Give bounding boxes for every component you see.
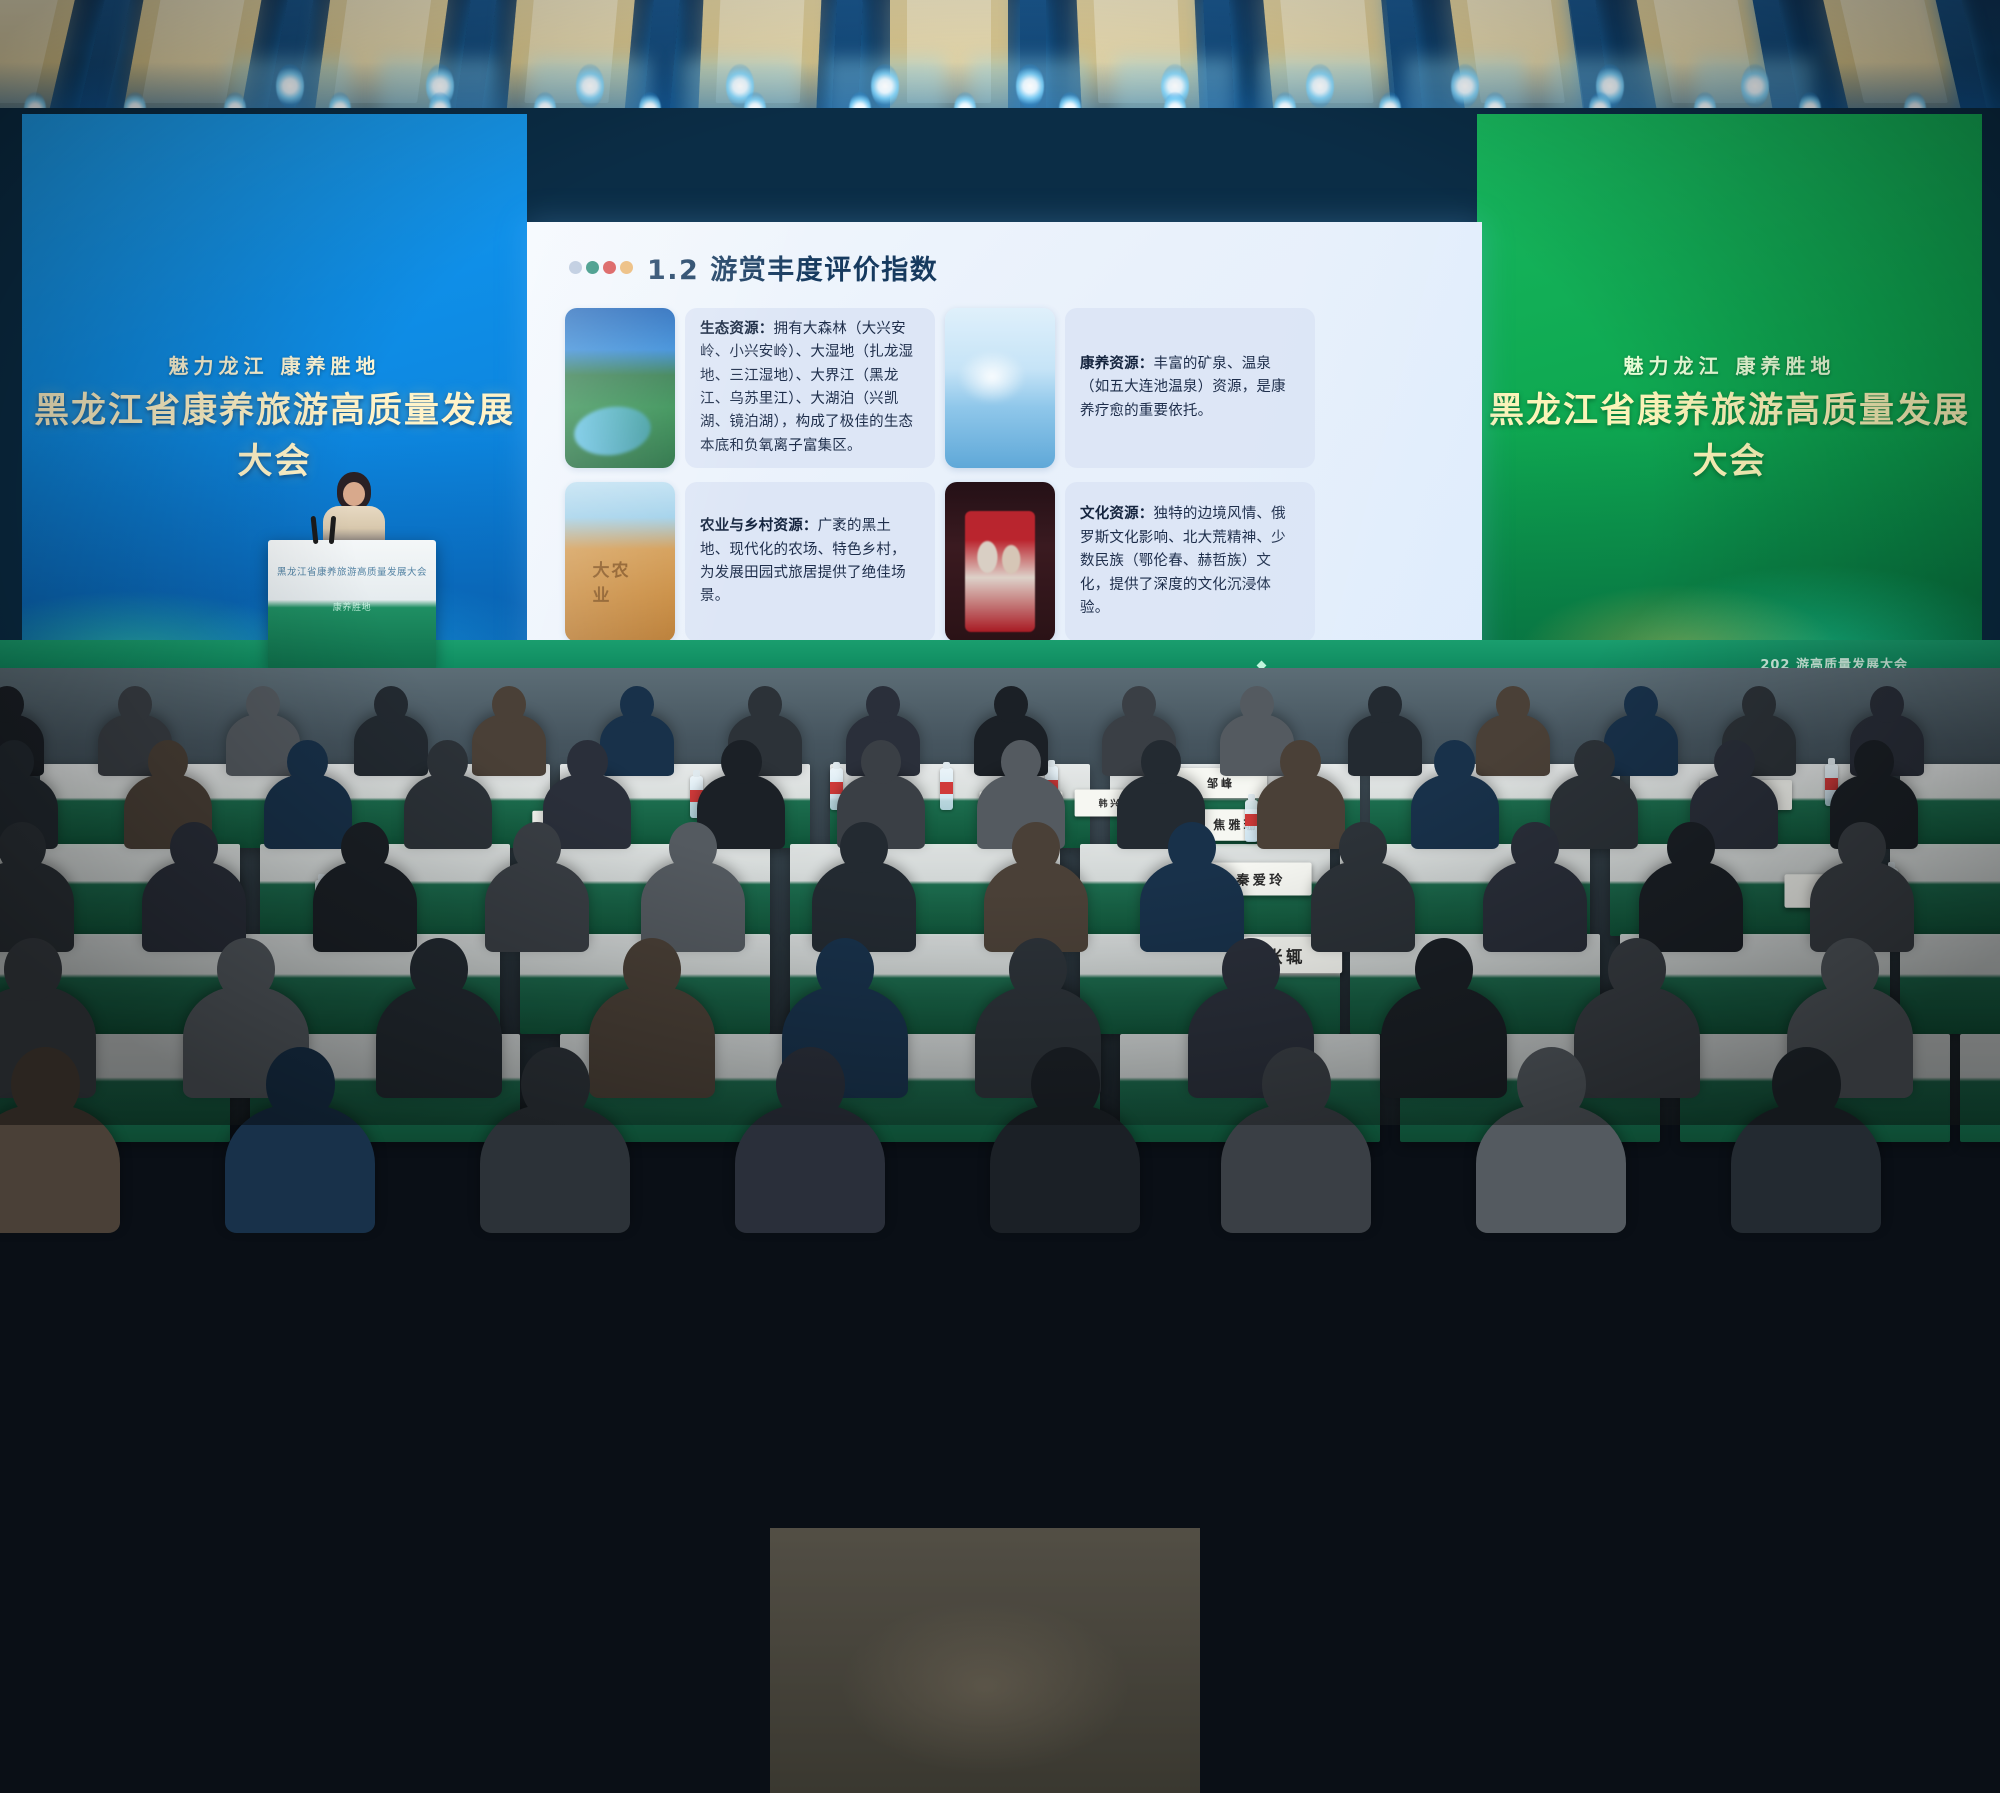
podium: 黑龙江省康养旅游高质量发展大会 康养胜地	[268, 540, 436, 670]
audience-member-head	[748, 686, 782, 723]
stage-spotlight	[576, 64, 604, 108]
audience-member-head	[287, 740, 327, 784]
dot-orange-icon	[620, 261, 633, 274]
stage-spotlight	[1451, 64, 1479, 108]
audience-member-head	[11, 1047, 80, 1122]
card-wellness: 康养资源：丰富的矿泉、温泉（如五大连池温泉）资源，是康养疗愈的重要依托。	[1065, 308, 1315, 468]
audience-member-head	[521, 1047, 590, 1122]
right-banner-title: 黑龙江省康养旅游高质量发展大会	[1477, 382, 1982, 484]
audience-member-head	[623, 938, 681, 1001]
audience-member-head	[1222, 938, 1280, 1001]
audience-member-head	[148, 740, 188, 784]
audience-member-head	[1714, 740, 1754, 784]
audience-member	[990, 1104, 1140, 1234]
conference-table	[1960, 1034, 2000, 1142]
conference-hall: 魅力龙江 康养胜地 黑龙江省康养旅游高质量发展大会 魅力龙江 康养胜地 黑龙江省…	[0, 0, 2000, 1125]
audience-member-head	[1772, 1047, 1841, 1122]
audience-member	[480, 1104, 630, 1234]
audience-member-head	[567, 740, 607, 784]
card-wellness-heading: 康养资源：	[1080, 356, 1154, 372]
card-eco-body: 拥有大森林（大兴安岭、小兴安岭）、大湿地（扎龙湿地、三江湿地）、大界江（黑龙江、…	[700, 321, 913, 454]
stage-spotlight	[276, 64, 304, 108]
card-eco: 生态资源：拥有大森林（大兴安岭、小兴安岭）、大湿地（扎龙湿地、三江湿地）、大界江…	[685, 308, 935, 468]
audience-member	[1311, 861, 1415, 952]
dot-red-icon	[603, 261, 616, 274]
audience-member-head	[1608, 938, 1666, 1001]
stage-spotlight	[1016, 64, 1044, 108]
audience-member-head	[1434, 740, 1474, 784]
water-bottle	[940, 768, 953, 810]
audience-member-head	[118, 686, 152, 723]
audience-member-head	[410, 938, 468, 1001]
audience-member	[0, 1104, 120, 1234]
left-banner-subtitle: 魅力龙江 康养胜地	[22, 350, 527, 379]
aisle-carpet	[770, 1528, 1200, 1793]
audience-member-head	[427, 740, 467, 784]
audience-member-head	[1496, 686, 1530, 723]
audience-member-head	[1511, 822, 1559, 874]
audience-member-head	[1821, 938, 1879, 1001]
speaker-face	[343, 482, 365, 506]
card-culture-heading: 文化资源：	[1080, 506, 1154, 522]
farmland-photo	[565, 482, 675, 642]
audience-member-head	[866, 686, 900, 723]
audience-member	[142, 861, 246, 952]
audience-member-head	[1742, 686, 1776, 723]
audience-member	[1381, 986, 1507, 1098]
audience-member-head	[1001, 740, 1041, 784]
audience-member	[1257, 774, 1345, 849]
audience-member-head	[1517, 1047, 1586, 1122]
audience-member-head	[776, 1047, 845, 1122]
audience-member-head	[246, 686, 280, 723]
stage-spotlight	[871, 64, 899, 108]
audience-member	[1348, 714, 1422, 776]
ethnic-costume-photo	[945, 482, 1055, 642]
dot-teal-icon	[586, 261, 599, 274]
audience-member	[1411, 774, 1499, 849]
resource-cards-grid: 生态资源：拥有大森林（大兴安岭、小兴安岭）、大湿地（扎龙湿地、三江湿地）、大界江…	[565, 308, 1445, 648]
audience-member	[1483, 861, 1587, 952]
stage-spotlight	[1741, 64, 1769, 108]
audience-member-head	[721, 740, 761, 784]
audience-member-head	[1141, 740, 1181, 784]
audience-member-head	[1009, 938, 1067, 1001]
audience-member-head	[1870, 686, 1904, 723]
audience-member-head	[4, 938, 62, 1001]
audience-member	[404, 774, 492, 849]
audience-member	[589, 986, 715, 1098]
title-dots-decoration	[569, 261, 633, 274]
audience-member-head	[620, 686, 654, 723]
audience-member	[1476, 714, 1550, 776]
audience-member	[600, 714, 674, 776]
card-agriculture-heading: 农业与乡村资源：	[700, 518, 818, 534]
audience-member-head	[170, 822, 218, 874]
audience-member-head	[1574, 740, 1614, 784]
left-banner-title: 黑龙江省康养旅游高质量发展大会	[22, 382, 527, 484]
audience-member	[354, 714, 428, 776]
conference-table	[1900, 934, 2000, 1034]
hot-spring-photo	[945, 308, 1055, 468]
audience-member-head	[266, 1047, 335, 1122]
audience-member-head	[1031, 1047, 1100, 1122]
audience-member	[1574, 986, 1700, 1098]
audience-member	[1476, 1104, 1626, 1234]
audience-member	[376, 986, 502, 1098]
audience-member-head	[513, 822, 561, 874]
audience-member-head	[1168, 822, 1216, 874]
audience-member	[264, 774, 352, 849]
audience-member-head	[217, 938, 275, 1001]
audience-member-head	[816, 938, 874, 1001]
slide-title: 1.2 游赏丰度评价指数	[647, 248, 938, 287]
audience-member-head	[1012, 822, 1060, 874]
audience-member-head	[1415, 938, 1473, 1001]
ceiling	[0, 0, 2000, 120]
card-culture-body: 独特的边境风情、俄罗斯文化影响、北大荒精神、少数民族（鄂伦春、赫哲族）文化，提供…	[1080, 506, 1286, 616]
audience-member	[1221, 1104, 1371, 1234]
dot-blue-icon	[569, 261, 582, 274]
audience-member	[485, 861, 589, 952]
led-panel-right: 魅力龙江 康养胜地 黑龙江省康养旅游高质量发展大会	[1477, 114, 1982, 654]
audience-floor: 邹峰焦雅珊秦爱玲张辄张瑞吴贾继城韩兴旺民	[0, 668, 2000, 1125]
stage-spotlight	[1306, 64, 1334, 108]
audience-member	[1639, 861, 1743, 952]
forest-river-photo	[565, 308, 675, 468]
audience-member	[812, 861, 916, 952]
card-agriculture: 农业与乡村资源：广袤的黑土地、现代化的农场、特色乡村，为发展田园式旅居提供了绝佳…	[685, 482, 935, 642]
audience-member	[1140, 861, 1244, 952]
audience-member-head	[1122, 686, 1156, 723]
audience-member-head	[1624, 686, 1658, 723]
audience-member	[1810, 861, 1914, 952]
audience-member-head	[1368, 686, 1402, 723]
audience-member	[1731, 1104, 1881, 1234]
audience-member-head	[374, 686, 408, 723]
right-banner-subtitle: 魅力龙江 康养胜地	[1477, 350, 1982, 379]
audience-member	[313, 861, 417, 952]
podium-label-secondary: 康养胜地	[268, 600, 436, 613]
audience-member-head	[1262, 1047, 1331, 1122]
audience-member	[472, 714, 546, 776]
audience-member-head	[1280, 740, 1320, 784]
audience-member	[225, 1104, 375, 1234]
podium-label: 黑龙江省康养旅游高质量发展大会	[268, 564, 436, 578]
audience-member	[1550, 774, 1638, 849]
card-culture: 文化资源：独特的边境风情、俄罗斯文化影响、北大荒精神、少数民族（鄂伦春、赫哲族）…	[1065, 482, 1315, 642]
audience-member-head	[492, 686, 526, 723]
card-eco-heading: 生态资源：	[700, 321, 774, 337]
audience-member-head	[994, 686, 1028, 723]
audience-member	[1604, 714, 1678, 776]
audience-member-head	[1240, 686, 1274, 723]
audience-member-head	[669, 822, 717, 874]
audience-member-head	[1667, 822, 1715, 874]
slide-title-row: 1.2 游赏丰度评价指数	[569, 248, 938, 287]
audience-member	[735, 1104, 885, 1234]
